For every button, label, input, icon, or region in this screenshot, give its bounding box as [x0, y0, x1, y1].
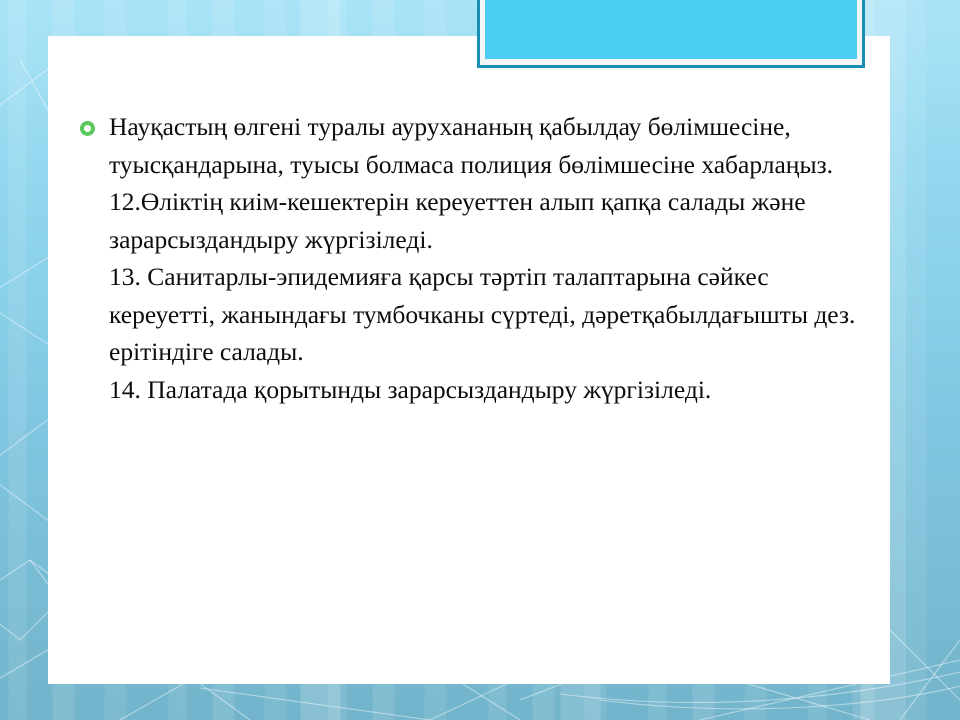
body-text-block: Науқастың өлгені туралы аурухананың қабы… [80, 108, 880, 408]
bullet-list-item: Науқастың өлгені туралы аурухананың қабы… [80, 108, 880, 408]
top-right-cyan-rectangle [477, 0, 865, 68]
slide-canvas: Науқастың өлгені туралы аурухананың қабы… [0, 0, 960, 720]
top-right-cyan-rectangle-fill [485, 0, 857, 59]
bullet-item-text: Науқастың өлгені туралы аурухананың қабы… [109, 108, 880, 408]
green-ring-bullet-icon [80, 121, 95, 136]
